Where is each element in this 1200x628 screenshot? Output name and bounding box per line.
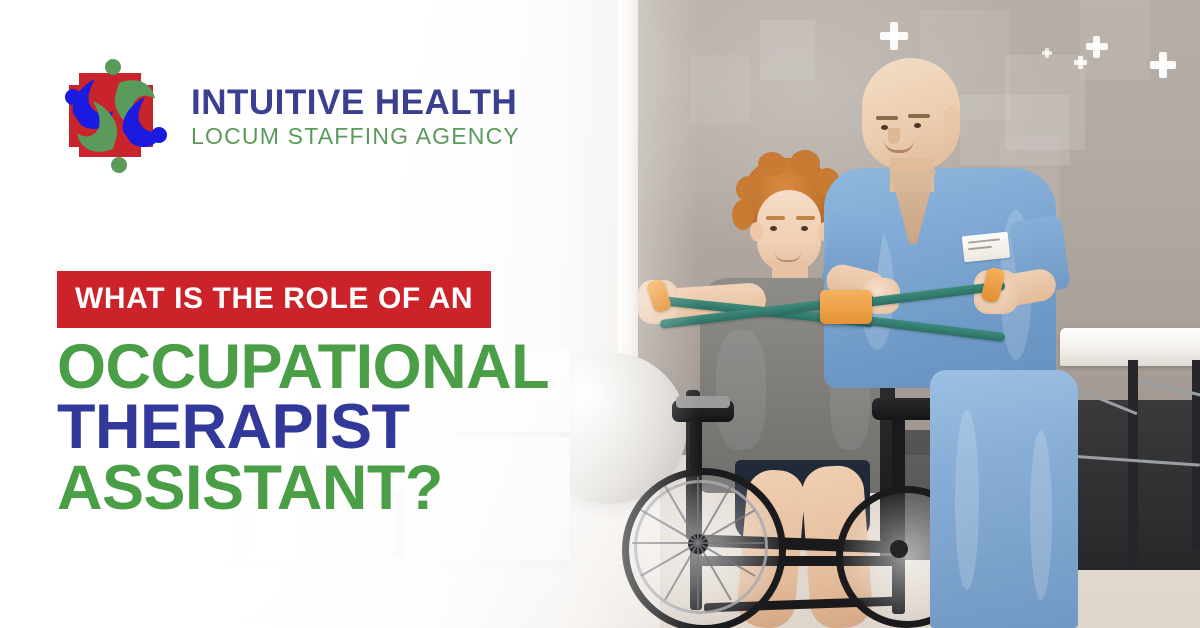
banner-content: INTUITIVE HEALTH LOCUM STAFFING AGENCY W… bbox=[0, 0, 1200, 628]
headline-line-3: ASSISTANT? bbox=[57, 458, 549, 518]
brand-tagline: LOCUM STAFFING AGENCY bbox=[191, 125, 520, 148]
brand-name: INTUITIVE HEALTH bbox=[191, 85, 520, 120]
brand-logo-text: INTUITIVE HEALTH LOCUM STAFFING AGENCY bbox=[191, 85, 520, 148]
headline-line-1: OCCUPATIONAL bbox=[57, 337, 549, 397]
headline-line-2: THERAPIST bbox=[57, 397, 549, 457]
headline-kicker-text: WHAT IS THE ROLE OF AN bbox=[75, 282, 473, 315]
promo-banner: INTUITIVE HEALTH LOCUM STAFFING AGENCY W… bbox=[0, 0, 1200, 628]
headline-block: OCCUPATIONAL THERAPIST ASSISTANT? bbox=[57, 337, 549, 518]
headline-kicker-banner: WHAT IS THE ROLE OF AN bbox=[57, 271, 491, 328]
pinwheel-cross-logo-icon bbox=[55, 55, 177, 177]
brand-logo[interactable]: INTUITIVE HEALTH LOCUM STAFFING AGENCY bbox=[55, 55, 520, 177]
